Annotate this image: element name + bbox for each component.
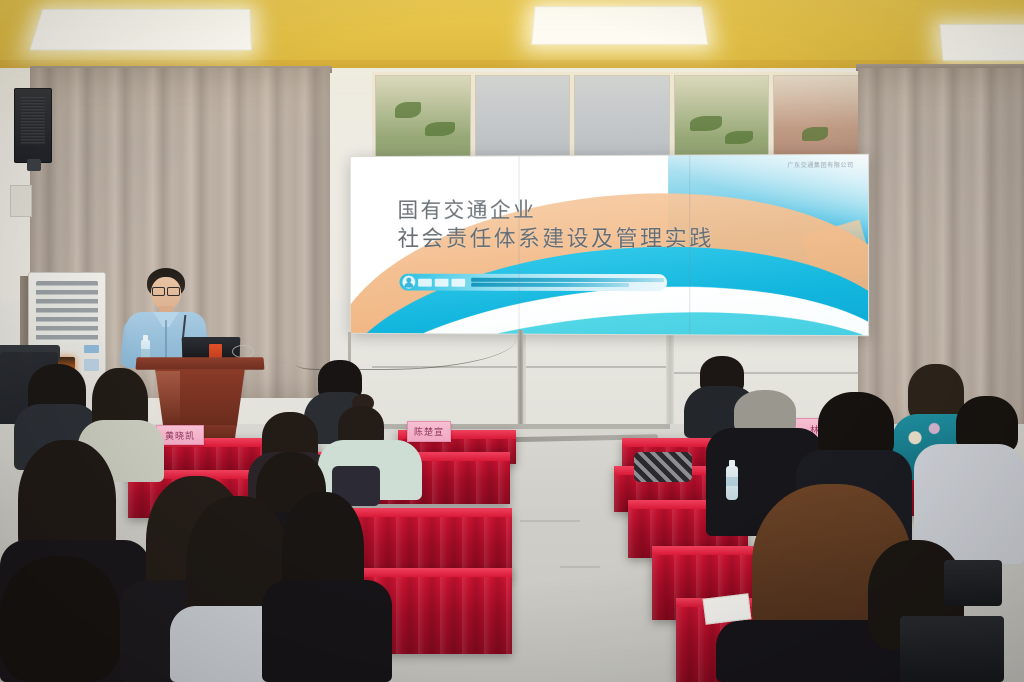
- glasses-icon: [151, 287, 181, 295]
- water-bottle: [726, 466, 738, 500]
- speaker-mount: [27, 159, 41, 171]
- wall-switch-plate[interactable]: [10, 185, 32, 217]
- speaker-grill: [21, 97, 45, 144]
- floor-scuff: [560, 566, 600, 568]
- screen-panel-seam: [689, 156, 690, 335]
- ceiling-light-panel: [531, 6, 708, 44]
- slide-title: 国有交通企业 社会责任体系建设及管理实践: [398, 198, 714, 253]
- window-pane: [375, 75, 471, 165]
- chair: [944, 560, 1002, 606]
- byline-line: [471, 283, 629, 287]
- wall-speaker: [14, 88, 52, 163]
- ceiling-light-panel: [939, 24, 1024, 61]
- ac-badge: [84, 345, 99, 353]
- chair: [900, 616, 1004, 682]
- screen-panel-seam: [518, 156, 519, 333]
- window-pane: [475, 75, 571, 165]
- byline-chip: [435, 278, 449, 286]
- slide-title-line2: 社会责任体系建设及管理实践: [398, 225, 714, 253]
- slide-surface: 广东交通集团有限公司 国有交通企业 社会责任体系建设及管理实践: [351, 155, 868, 335]
- paper-sheet: [703, 593, 752, 624]
- projection-screen[interactable]: 广东交通集团有限公司 国有交通企业 社会责任体系建设及管理实践: [350, 154, 869, 336]
- slide-speaker-byline: [400, 274, 668, 291]
- patterned-bag: [634, 452, 692, 482]
- podium-highlight: [156, 371, 180, 425]
- name-card: 陈楚宣: [407, 421, 451, 442]
- byline-chip: [418, 278, 432, 286]
- ceiling-light-panel: [29, 9, 251, 50]
- podium-top: [136, 357, 265, 369]
- byline-text: [468, 278, 664, 288]
- byline-line: [471, 278, 664, 282]
- slide-logo: 广东交通集团有限公司: [787, 160, 853, 169]
- floor-scuff: [520, 520, 580, 522]
- ac-badge: [84, 359, 99, 371]
- byline-chip: [451, 278, 465, 286]
- slide-title-line1: 国有交通企业: [398, 198, 714, 225]
- person-icon: [402, 276, 415, 289]
- conference-room-photo: 广东交通集团有限公司 国有交通企业 社会责任体系建设及管理实践: [0, 0, 1024, 682]
- window-pane: [574, 75, 670, 165]
- ac-louvers: [36, 281, 98, 343]
- window-pane: [674, 75, 770, 165]
- window-pane: [773, 75, 869, 165]
